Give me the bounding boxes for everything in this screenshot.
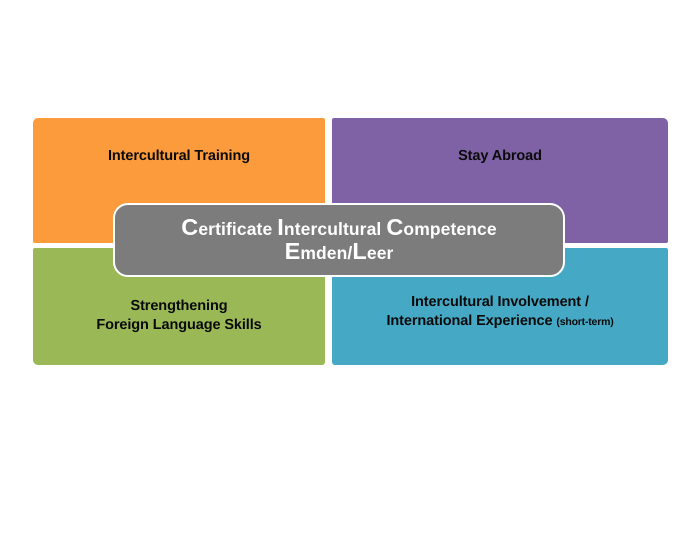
plaque-word-emden: mden/ — [300, 243, 352, 263]
plaque-title-line-2: Emden/Leer — [285, 241, 394, 264]
quadrant-label-note: (short-term) — [556, 316, 613, 328]
plaque-cap-c1: C — [181, 214, 198, 240]
quadrant-label-line-2-wrap: International Experience (short-term) — [332, 312, 668, 331]
plaque-word-intercultural: ntercultural — [284, 219, 381, 239]
quadrant-label-intercultural-involvement: Intercultural Involvement / Internationa… — [332, 293, 668, 330]
quadrant-label-foreign-language-skills: Strengthening Foreign Language Skills — [33, 297, 325, 334]
plaque-word-leer: eer — [367, 243, 394, 263]
quadrant-label-stay-abroad: Stay Abroad — [332, 147, 668, 166]
quadrant-label-line-2: International Experience — [386, 313, 552, 329]
plaque-cap-i1: I — [277, 214, 284, 240]
quadrant-label-intercultural-training: Intercultural Training — [33, 147, 325, 166]
plaque-cap-l: L — [352, 238, 366, 264]
quadrant-label-line-1: Strengthening — [33, 297, 325, 316]
center-certificate-plaque[interactable]: Certificate Intercultural Competence Emd… — [113, 203, 565, 277]
plaque-cap-e: E — [285, 238, 301, 264]
quadrant-label-line-2: Foreign Language Skills — [33, 316, 325, 335]
plaque-word-competence: ompetence — [403, 219, 496, 239]
certificate-competence-diagram: Intercultural Training Stay Abroad Stren… — [33, 118, 668, 365]
plaque-title-line-1: Certificate Intercultural Competence — [181, 217, 496, 240]
plaque-word-certificate: ertificate — [198, 219, 272, 239]
quadrant-label-line-1: Intercultural Involvement / — [332, 293, 668, 312]
plaque-cap-c2: C — [386, 214, 403, 240]
